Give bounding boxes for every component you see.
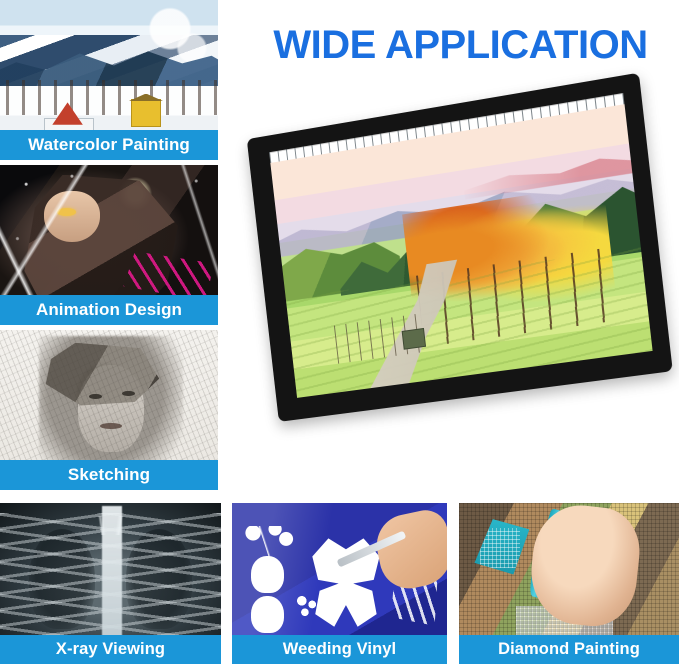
tile-caption: X-ray Viewing <box>0 635 221 664</box>
application-tile-weeding-vinyl[interactable]: Weeding Vinyl <box>232 503 447 664</box>
vinyl-hearts-shape <box>294 593 320 619</box>
field-sign-shape <box>401 328 426 350</box>
vinyl-owl-shape <box>251 596 283 633</box>
clavicle-shape <box>18 516 204 535</box>
tile-caption: Animation Design <box>0 295 218 325</box>
tile-caption: Sketching <box>0 460 218 490</box>
light-pad-screen <box>269 93 652 398</box>
yellow-house-shape <box>131 99 161 127</box>
treeline-shape <box>0 80 218 115</box>
tile-caption: Diamond Painting <box>459 635 679 664</box>
tile-caption: Watercolor Painting <box>0 130 218 160</box>
vinyl-owl-shape <box>251 556 283 593</box>
application-tile-sketching[interactable]: Sketching <box>0 330 218 490</box>
application-tile-animation-design[interactable]: Animation Design <box>0 165 218 325</box>
led-light-pad-device[interactable] <box>247 73 673 422</box>
application-tile-xray-viewing[interactable]: X-ray Viewing <box>0 503 221 664</box>
tile-caption: Weeding Vinyl <box>232 635 447 664</box>
application-tile-watercolor-painting[interactable]: Watercolor Painting <box>0 0 218 160</box>
application-tile-diamond-painting[interactable]: Diamond Painting <box>459 503 679 664</box>
product-showcase <box>232 80 679 440</box>
page-title: WIDE APPLICATION <box>248 16 673 74</box>
